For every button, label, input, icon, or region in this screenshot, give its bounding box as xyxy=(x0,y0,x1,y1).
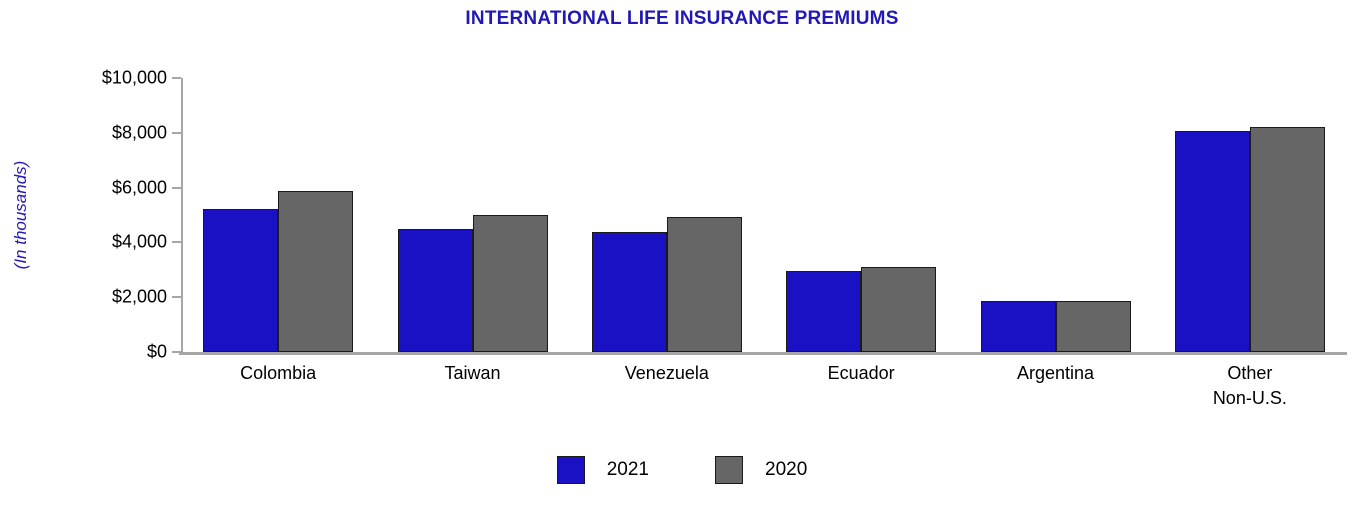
chart-title: INTERNATIONAL LIFE INSURANCE PREMIUMS xyxy=(0,8,1364,30)
x-axis-line xyxy=(179,352,1347,355)
x-axis-tick-label-line: Taiwan xyxy=(363,361,583,386)
y-axis-tick-label: $8,000 xyxy=(47,122,167,143)
y-axis-tick-label: $0 xyxy=(47,342,167,363)
bar-2021-Colombia[interactable] xyxy=(203,209,278,352)
bar-2020-Colombia[interactable] xyxy=(278,191,353,352)
legend-item-2020[interactable]: 2020 xyxy=(715,456,807,484)
x-axis-tick-label-line: Venezuela xyxy=(557,361,777,386)
bar-2021-Venezuela[interactable] xyxy=(592,232,667,352)
bar-2021-Argentina[interactable] xyxy=(981,301,1056,352)
chart-legend: 20212020 xyxy=(0,456,1364,484)
bar-2021-Other-Non-U-S-[interactable] xyxy=(1175,131,1250,352)
x-axis-tick-label-line: Ecuador xyxy=(751,361,971,386)
bar-chart: INTERNATIONAL LIFE INSURANCE PREMIUMS (I… xyxy=(0,0,1364,522)
x-axis-tick-label: OtherNon-U.S. xyxy=(1140,361,1360,411)
y-axis-tick-mark xyxy=(172,351,181,353)
y-axis-tick-label: $4,000 xyxy=(47,232,167,253)
x-axis-tick-label: Venezuela xyxy=(557,361,777,386)
y-axis-tick-mark xyxy=(172,132,181,134)
bar-2020-Other-Non-U-S-[interactable] xyxy=(1250,127,1325,352)
y-axis-tick-labels: $0$2,000$4,000$6,000$8,000$10,000 xyxy=(47,78,167,352)
x-axis-tick-label: Taiwan xyxy=(363,361,583,386)
y-axis-title-text: (In thousands) xyxy=(11,161,31,270)
bar-2020-Ecuador[interactable] xyxy=(861,267,936,352)
legend-label: 2020 xyxy=(765,459,807,481)
x-axis-tick-label: Ecuador xyxy=(751,361,971,386)
bar-2020-Venezuela[interactable] xyxy=(667,217,742,352)
y-axis-tick-mark xyxy=(172,241,181,243)
y-axis-tick-label: $6,000 xyxy=(47,177,167,198)
legend-swatch-2020 xyxy=(715,456,743,484)
x-axis-tick-label-line: Other xyxy=(1140,361,1360,386)
y-axis-line xyxy=(181,78,183,352)
bar-2020-Argentina[interactable] xyxy=(1056,301,1131,352)
legend-item-2021[interactable]: 2021 xyxy=(557,456,649,484)
x-axis-tick-label: Argentina xyxy=(946,361,1166,386)
x-axis-tick-label: Colombia xyxy=(168,361,388,386)
bar-2020-Taiwan[interactable] xyxy=(473,215,548,352)
x-axis-tick-label-line: Colombia xyxy=(168,361,388,386)
y-axis-tick-label: $10,000 xyxy=(47,68,167,89)
x-axis-tick-label-line: Non-U.S. xyxy=(1140,386,1360,411)
x-axis-tick-label-line: Argentina xyxy=(946,361,1166,386)
y-axis-tick-mark xyxy=(172,77,181,79)
plot-area xyxy=(181,78,1347,352)
legend-label: 2021 xyxy=(607,459,649,481)
y-axis-title: (In thousands) xyxy=(8,78,34,352)
legend-swatch-2021 xyxy=(557,456,585,484)
y-axis-tick-mark xyxy=(172,296,181,298)
bar-2021-Taiwan[interactable] xyxy=(398,229,473,352)
y-axis-tick-mark xyxy=(172,187,181,189)
y-axis-tick-label: $2,000 xyxy=(47,287,167,308)
bar-2021-Ecuador[interactable] xyxy=(786,271,861,352)
